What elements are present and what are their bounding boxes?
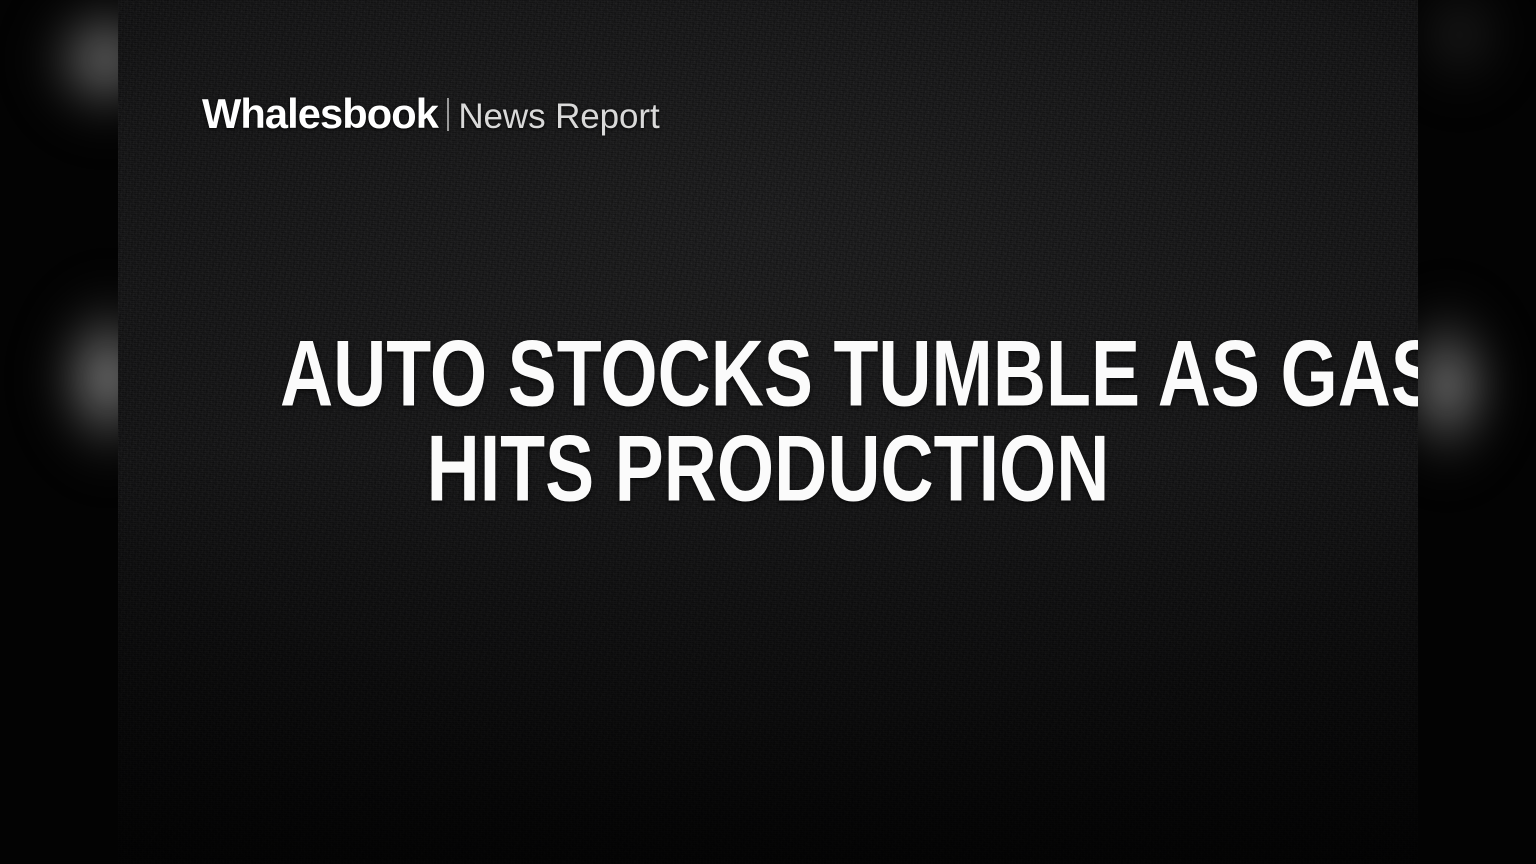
brand-subtitle: News Report: [458, 97, 659, 137]
brand-logo: Whalesbook News Report: [202, 90, 660, 138]
headline-line-2: HITS PRODUCTION: [280, 421, 1256, 518]
content-panel: Whalesbook News Report AUTO STOCKS TUMBL…: [118, 0, 1418, 864]
headline-line-1: AUTO STOCKS TUMBLE AS GAS SHORTAGE: [280, 326, 1256, 423]
news-report-card: Whalesbook News Report AUTO STOCKS TUMBL…: [0, 0, 1536, 864]
headline: AUTO STOCKS TUMBLE AS GAS SHORTAGE HITS …: [118, 326, 1418, 516]
brand-name: Whalesbook: [202, 90, 438, 138]
brand-separator-bar: [447, 98, 449, 131]
